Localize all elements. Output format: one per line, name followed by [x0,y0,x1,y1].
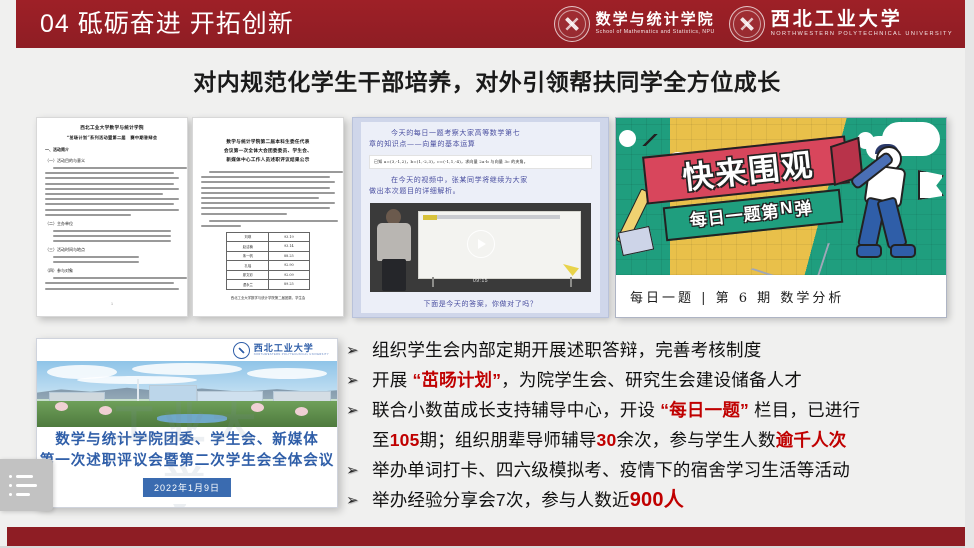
school-logo: 数学与统计学院 School of Mathematics and Statis… [554,6,715,42]
table-cell-name: 谭永兰 [227,280,269,290]
right-edge-margin [965,0,974,548]
table-cell-score: 93.19 [269,232,309,242]
doc2-footer: 西北工业大学数学与统计学院第二届团委、学生会 [201,295,335,300]
slide-header-bar: 04 砥砺奋进 开拓创新 数学与统计学院 School of Mathemati… [16,0,965,48]
university-seal-icon [233,342,250,359]
wechat-line-4: 做出本次题目的详细解析。 [369,186,592,197]
poster-subtitle-post: 弹 [793,193,814,220]
table-cell-score: 88.25 [269,251,309,261]
table-cell-name: 赵洁楠 [227,242,269,252]
poster-subtitle-n: N [779,198,794,219]
table-cell-name: 朱一帆 [227,251,269,261]
list-item: ➢ 举办经验分享会7次，参与人数近900人 [346,486,968,515]
table-row: 朱一帆 88.25 [227,251,309,261]
doc1-sub1: （一）活动目的与意义 [45,158,179,164]
school-logo-en: School of Mathematics and Statistics, NP… [596,30,715,35]
table-cell-name: 孔瑶 [227,261,269,271]
list-item: ➢ 联合小数苗成长支持辅导中心，开设 “每日一题” 栏目，已进行 [346,396,968,425]
list-item: ➢ 举办单词打卡、四六级模拟考、疫情下的宿舍学习生活等活动 [346,456,968,485]
arrow-bullet-icon: ➢ [346,396,363,425]
poster-subtitle-pre: 每日一题第 [688,197,780,231]
table-cell-score: 89.25 [269,280,309,290]
doc1-body-2 [45,230,179,242]
table-row: 廖文彩 92.09 [227,270,309,280]
table-row: 刘琪 93.19 [227,232,309,242]
doc2-body-2 [201,220,335,227]
bullet-text: 联合小数苗成长支持辅导中心，开设 “每日一题” 栏目，已进行 [372,396,860,425]
header-logos: 数学与统计学院 School of Mathematics and Statis… [554,4,953,44]
doc2-body-1 [201,171,335,215]
poster-artwork: 快来围观 每日一题第 N 弹 [616,118,946,275]
arrow-bullet-icon: ➢ [346,486,363,515]
card-university-logo: 西北工业大学 NORTHWESTERN POLYTECHNICAL UNIVER… [233,342,329,359]
doc1-heading2: “茁旸计划”系列活动暨第二届 赛中期答辩会 [45,133,179,142]
doc1-sub4: （四）参与对象 [45,268,179,274]
meeting-announcement-card: 西北工业大学 NORTHWESTERN POLYTECHNICAL UNIVER… [36,338,338,508]
doc1-heading1: 西北工业大学数学与统计学院 [45,124,179,133]
wechat-line-3: 在今天的视频中，张某同学将继续为大家 [369,175,592,186]
video-player[interactable]: 09:15 [370,203,591,292]
school-seal-icon [554,6,590,42]
doc2-heading1: 数学与统计学院第二届本科生委任代表 [201,138,335,147]
list-item-continuation: 至105期；组织朋辈导师辅导30余次，参与学生人数逾千人次 [346,426,968,455]
slide-title: 对内规范化学生干部培养，对外引领帮扶同学全方位成长 [0,63,974,97]
school-logo-cn: 数学与统计学院 [596,12,715,27]
slide-canvas: 04 砥砺奋进 开拓创新 数学与统计学院 School of Mathemati… [0,0,974,548]
wechat-footer: 下面是今天的答案，你做对了吗？ [369,299,592,310]
table-cell-name: 刘琪 [227,232,269,242]
doc2-heading2: 会议第一次全体大会团委委员、学生会、 [201,147,335,156]
card-line-2: 第一次述职评议会暨第二次学生会全体会议 [37,451,337,472]
video-duration: 09:15 [473,278,488,284]
university-logo-en: NORTHWESTERN POLYTECHNICAL UNIVERSITY [771,32,953,38]
doc1-body-4 [45,277,179,289]
page-title: 04 砥砺奋进 开拓创新 [40,7,294,41]
bullet-list: ➢ 组织学生会内部定期开展述职答辩，完善考核制度 ➢ 开展 “茁旸计划”，为院学… [346,336,968,516]
document-screenshot-plan: 西北工业大学数学与统计学院 “茁旸计划”系列活动暨第二届 赛中期答辩会 一、活动… [36,117,188,317]
arrow-bullet-icon: ➢ [346,456,363,485]
arrow-bullet-icon: ➢ [346,366,363,395]
presenter-figure [374,209,416,291]
poster-image: 快来围观 每日一题第 N 弹 每日一题 | 第 6 期 数学分析 [615,117,947,318]
list-item: ➢ 开展 “茁旸计划”，为院学生会、研究生会建设储备人才 [346,366,968,395]
arrow-bullet-icon: ➢ [346,336,363,365]
bullet-text: 开展 “茁旸计划”，为院学生会、研究生会建设储备人才 [372,366,802,395]
doc1-sub3: （三）活动时间与地点 [45,247,179,253]
university-seal-icon [729,6,765,42]
bullet-text: 至105期；组织朋辈导师辅导30余次，参与学生人数逾千人次 [372,426,847,455]
campus-photo [37,361,337,427]
doc1-sub2: （二）主办单位 [45,221,179,227]
list-item: ➢ 组织学生会内部定期开展述职答辩，完善考核制度 [346,336,968,365]
doc1-body-3 [45,256,179,263]
wechat-article-screenshot: 今天的每日一题考察大家高等数学第七 章的知识点——向量的基本运算 已知 a=(3… [352,117,609,318]
table-cell-score: 92.90 [269,261,309,271]
card-logo-en: NORTHWESTERN POLYTECHNICAL UNIVERSITY [254,354,329,357]
table-row: 谭永兰 89.25 [227,280,309,290]
university-logo-cn: 西北工业大学 [771,10,953,29]
doc1-section1: 一、活动简介 [45,147,179,153]
table-cell-name: 廖文彩 [227,270,269,280]
doc2-score-table: 刘琪 93.19 赵洁楠 93.14 朱一帆 88.25 孔瑶 92.90 廖文… [226,232,309,290]
table-row: 孔瑶 92.90 [227,261,309,271]
footer-bar [7,527,969,546]
table-cell-score: 92.09 [269,270,309,280]
wechat-line-1: 今天的每日一题考察大家高等数学第七 [369,128,592,139]
bullet-text: 举办经验分享会7次，参与人数近900人 [372,486,684,515]
bullet-text: 举办单词打卡、四六级模拟考、疫情下的宿舍学习生活等活动 [372,456,850,485]
table-row: 赵洁楠 93.14 [227,242,309,252]
table-cell-score: 93.14 [269,242,309,252]
document-screenshot-results: 数学与统计学院第二届本科生委任代表 会议第一次全体大会团委委员、学生会、 新媒体… [192,117,344,317]
student-figure [852,146,924,258]
doc1-page-number: 1 [45,302,179,306]
list-menu-icon[interactable] [0,459,53,511]
card-date-badge: 2022年1月9日 [143,478,231,497]
doc1-body-1 [45,167,179,216]
card-line-1: 数学与统计学院团委、学生会、新媒体 [37,430,337,451]
wechat-line-2: 章的知识点——向量的基本运算 [369,139,592,150]
wechat-formula: 已知 a=(3,-1,2)，b=(1,-2,3)，c=(-1,1,-4)，求向量… [369,155,592,169]
poster-caption: 每日一题 | 第 6 期 数学分析 [616,275,946,317]
bullet-text: 组织学生会内部定期开展述职答辩，完善考核制度 [372,336,761,365]
university-logo: 西北工业大学 NORTHWESTERN POLYTECHNICAL UNIVER… [729,6,953,42]
play-button-icon[interactable] [467,230,495,258]
doc2-heading3: 新媒体中心工作人员述职评议结果公示 [201,156,335,165]
whiteboard [418,211,581,279]
